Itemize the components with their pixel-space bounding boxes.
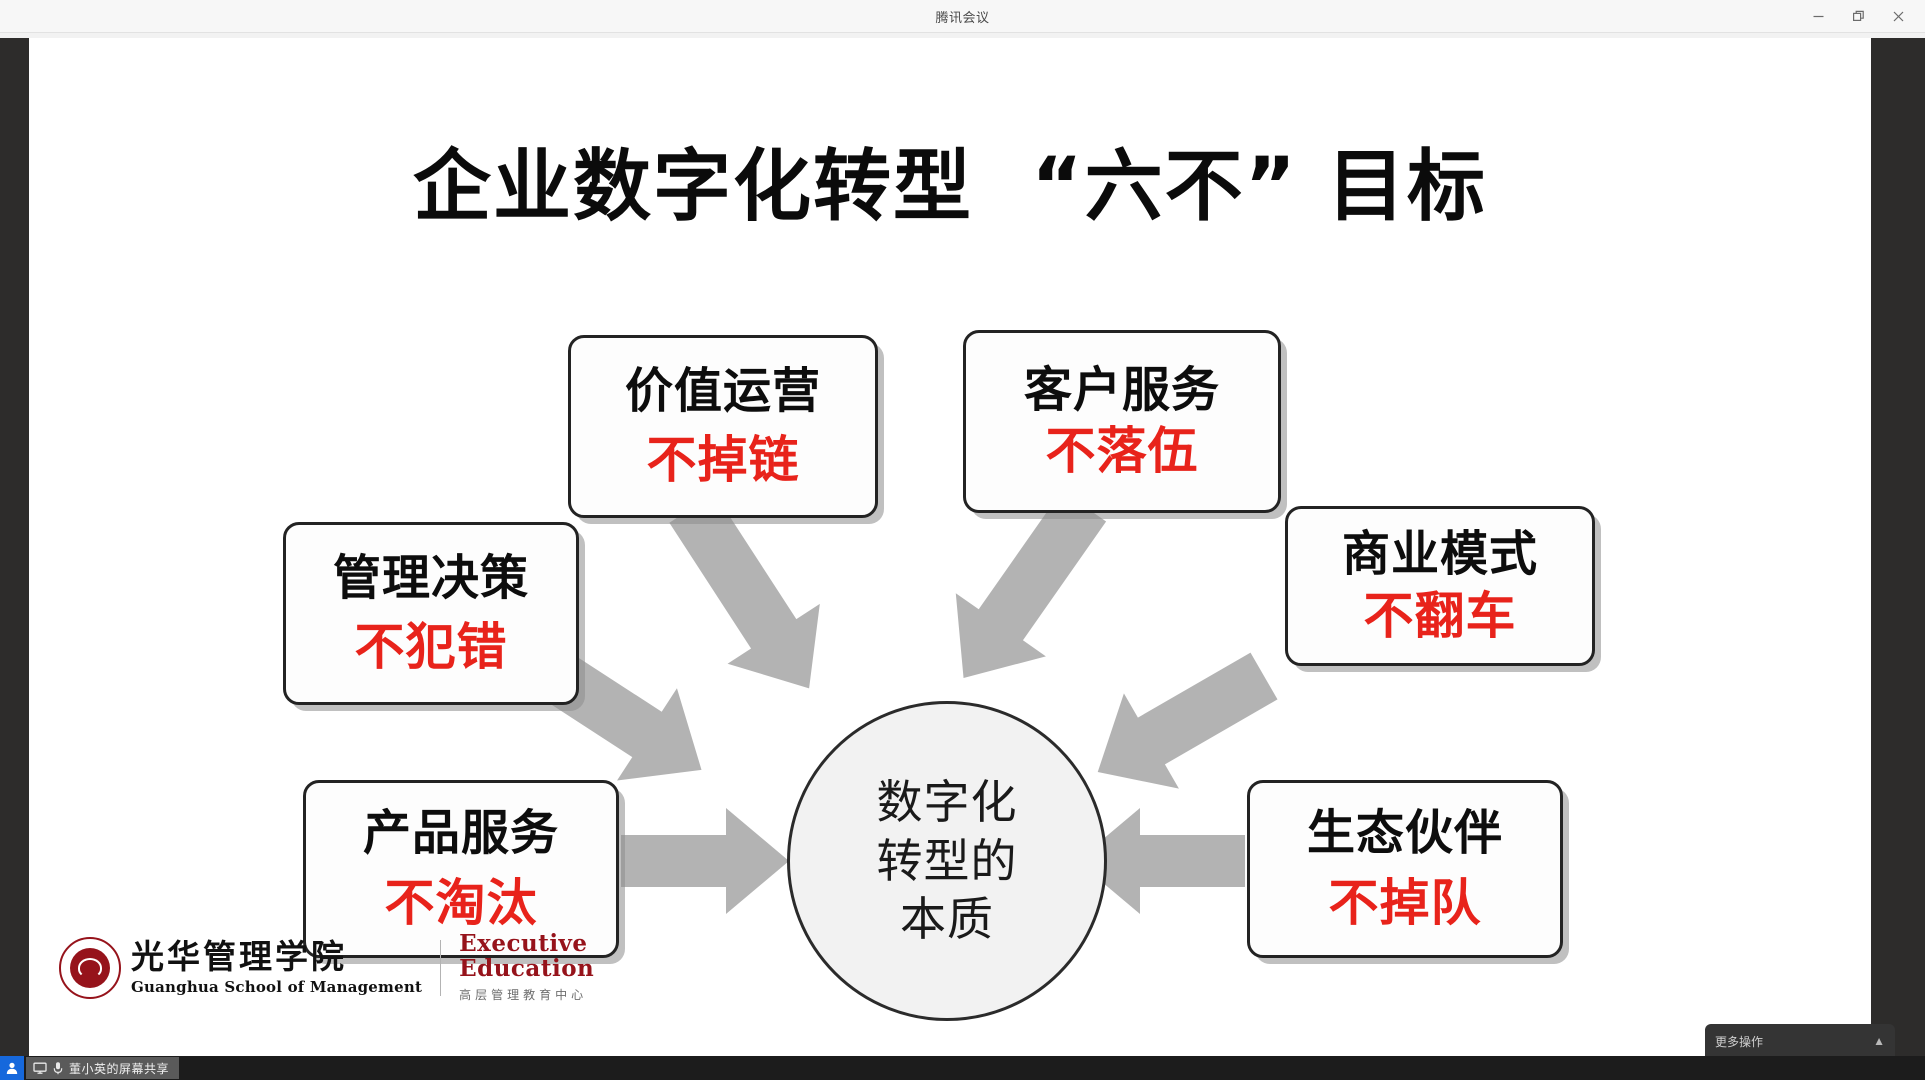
logo-chinese-name: 光华管理学院 [131,939,422,975]
concept-slogan: 不掉队 [1329,874,1482,933]
concept-title: 商业模式 [1342,526,1538,583]
arrow-product-to-hub [621,808,789,914]
concept-box-decision: 管理决策 不犯错 [283,522,579,705]
concept-title: 管理决策 [333,550,529,607]
restore-icon [1852,10,1865,23]
seal-inner-mark [78,958,102,978]
window-title-bar[interactable]: 腾讯会议 [0,0,1925,33]
concept-title: 客户服务 [1024,362,1220,419]
person-icon [5,1061,19,1075]
minimize-button[interactable] [1799,3,1837,31]
share-status-pill[interactable]: 董小英的屏幕共享 [26,1057,179,1079]
screen-share-stage: 企业数字化转型 “六不” 目标 [0,33,1925,1058]
center-hub-node: 数字化 转型的 本质 [787,701,1107,1021]
logo-english-name: Guanghua School of Management [131,978,422,996]
window-controls [1799,0,1917,33]
chevron-up-icon[interactable]: ▲ [1873,1034,1885,1048]
ee-chinese-label: 高层管理教育中心 [459,986,594,1003]
minimize-icon [1812,10,1825,23]
participant-avatar [0,1056,24,1080]
close-icon [1892,10,1905,23]
maximize-button[interactable] [1839,3,1877,31]
meeting-control-strip[interactable]: 更多操作 ▲ [1705,1024,1895,1058]
concept-box-ecosystem: 生态伙伴 不掉队 [1247,780,1563,958]
concept-title: 产品服务 [363,805,559,862]
ee-line-2: Education [459,957,594,982]
concept-slogan: 不落伍 [1046,422,1199,481]
concept-title: 价值运营 [625,363,821,420]
taskbar: 董小英的屏幕共享 [0,1056,1925,1080]
microphone-icon [52,1061,64,1075]
presentation-slide: 企业数字化转型 “六不” 目标 [29,38,1871,1058]
close-button[interactable] [1879,3,1917,31]
concept-title: 生态伙伴 [1307,805,1503,862]
concept-box-business: 商业模式 不翻车 [1285,506,1595,666]
concept-slogan: 不犯错 [355,618,508,677]
screen-share-indicator[interactable]: 董小英的屏幕共享 [0,1056,179,1080]
tencent-meeting-window: 腾讯会议 [0,0,1925,1080]
university-seal-icon [59,937,121,999]
concept-slogan: 不翻车 [1364,587,1517,646]
concept-slogan: 不淘汰 [385,874,538,933]
logo-divider [440,940,441,996]
window-title: 腾讯会议 [935,7,989,26]
institution-logo: 光华管理学院 Guanghua School of Management Exe… [59,932,594,1003]
logo-names: 光华管理学院 Guanghua School of Management [131,939,422,996]
monitor-icon [33,1061,47,1075]
center-hub-label: 数字化 转型的 本质 [877,773,1018,950]
concept-slogan: 不掉链 [647,431,800,490]
executive-education-mark: Executive Education 高层管理教育中心 [459,932,594,1003]
concept-box-customer: 客户服务 不落伍 [963,330,1281,513]
meeting-controls-label: 更多操作 [1715,1033,1763,1050]
concept-box-value: 价值运营 不掉链 [568,335,878,518]
share-status-text: 董小英的屏幕共享 [69,1060,169,1077]
ee-line-1: Executive [459,932,594,957]
